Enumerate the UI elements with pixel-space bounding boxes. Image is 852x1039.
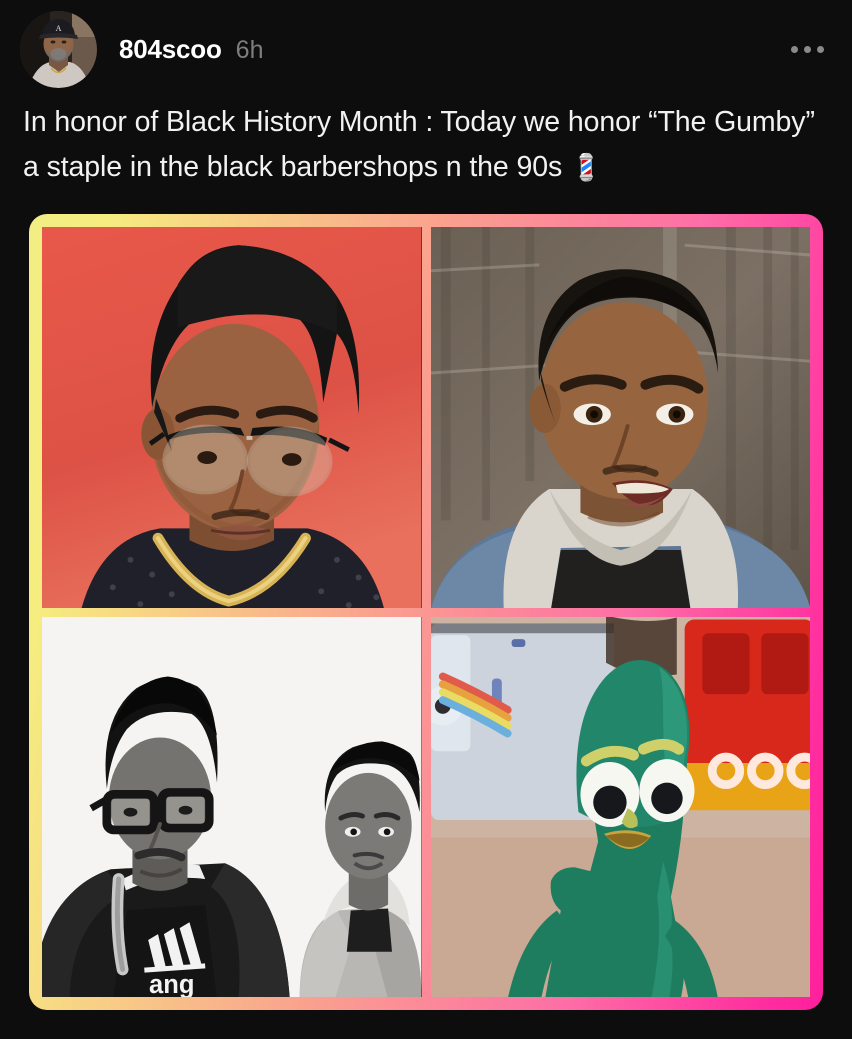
avatar-image: A — [20, 11, 97, 88]
photo-high-top-fade-glasses — [42, 227, 422, 608]
ellipsis-dot — [817, 46, 824, 53]
media-grid: ang — [42, 227, 810, 997]
social-media-post: A 804scoo 6h In honor of Black History M… — [0, 0, 852, 1039]
post-footer-spacer — [0, 1010, 852, 1039]
barber-pole-icon: 💈 — [570, 152, 602, 182]
avatar[interactable]: A — [20, 11, 97, 88]
header-text: 804scoo 6h — [119, 34, 784, 65]
caption-text: In honor of Black History Month : Today … — [23, 106, 815, 183]
photo-bw-two-men-hi-top-fades: ang — [42, 617, 422, 998]
username[interactable]: 804scoo — [119, 34, 222, 65]
svg-text:A: A — [56, 24, 62, 33]
media-item-top-right[interactable] — [431, 227, 811, 608]
photo-gumby-clay-character — [431, 617, 811, 998]
post-caption: In honor of Black History Month : Today … — [0, 84, 852, 190]
timestamp: 6h — [236, 36, 264, 65]
ellipsis-dot — [791, 46, 798, 53]
ellipsis-dot — [804, 46, 811, 53]
media-gradient-frame: ang — [29, 214, 823, 1010]
media-item-bottom-right[interactable] — [431, 617, 811, 998]
ellipsis-horizontal-icon[interactable] — [784, 34, 830, 64]
post-header: A 804scoo 6h — [0, 0, 852, 84]
photo-fade-hoodie-denim-jacket — [431, 227, 811, 608]
media-item-bottom-left[interactable]: ang — [42, 617, 422, 998]
media-item-top-left[interactable] — [42, 227, 422, 608]
svg-text:ang: ang — [149, 971, 194, 997]
